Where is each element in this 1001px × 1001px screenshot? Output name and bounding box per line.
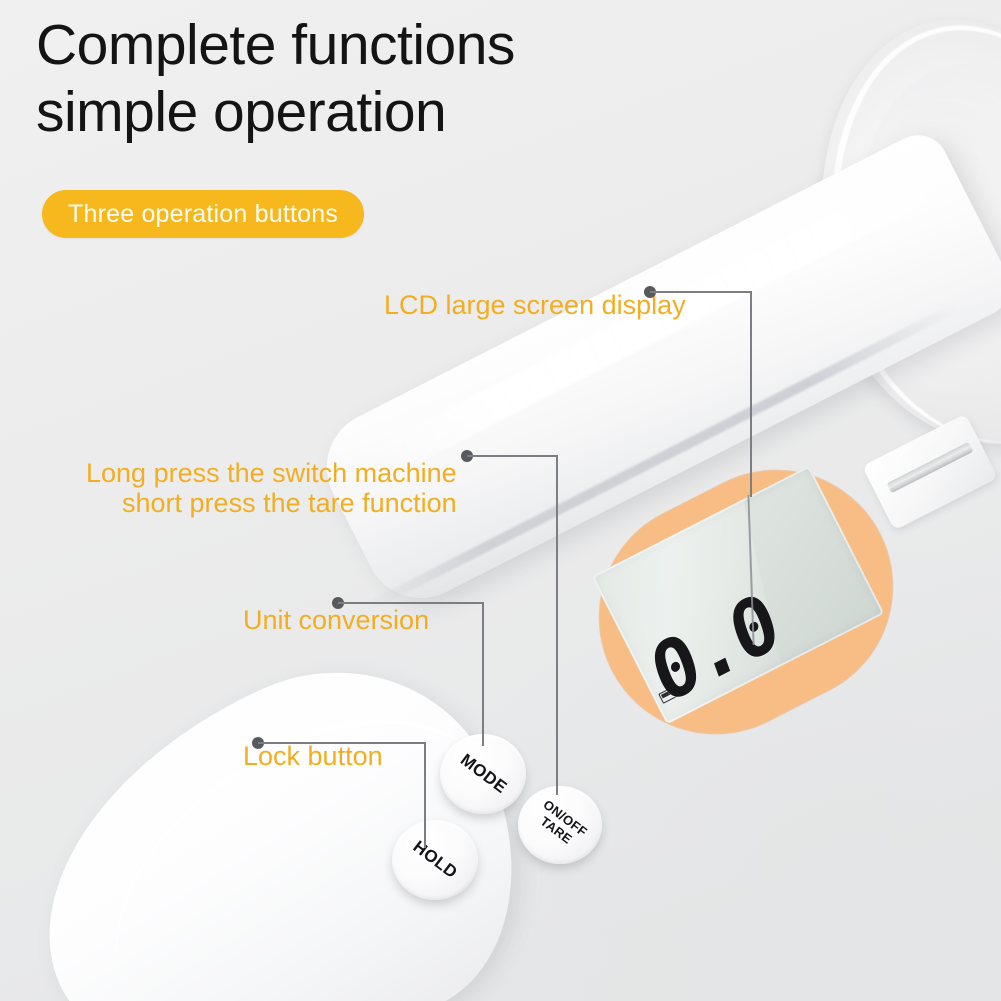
feature-badge-label: Three operation buttons [68,200,338,229]
callout-unit-conversion: Unit conversion [243,606,429,634]
callout-lcd-display-leader-v [750,291,752,497]
on-off-tare-button-label: ON/OFF TARE [531,798,589,852]
hold-button-label: HOLD [409,837,461,883]
page-title-line-1: Complete functions [36,12,696,79]
hold-button[interactable]: HOLD [392,820,478,900]
infographic-canvas: 0.0 MODE HOLD ON/OFF TARE Complete funct… [0,0,1001,1001]
callout-power-tare-leader-h [467,455,557,457]
callout-unit-conversion-leader-h [338,602,483,604]
callout-power-tare: Long press the switch machine short pres… [86,458,457,518]
callout-unit-conversion-leader-v [482,602,484,746]
callout-power-tare-leader-v [556,455,558,795]
on-off-tare-button[interactable]: ON/OFF TARE [518,786,602,864]
page-title-line-2: simple operation [36,79,696,146]
callout-power-tare-line-2: short press the tare function [86,488,457,518]
page-title: Complete functions simple operation [36,12,696,147]
feature-badge: Three operation buttons [42,190,364,238]
callout-lcd-display: LCD large screen display [384,291,686,319]
mode-button[interactable]: MODE [440,734,526,814]
mode-button-label: MODE [456,750,510,798]
callout-lock-button: Lock button [243,742,383,770]
callout-lcd-display-leader-h [650,291,751,293]
callout-power-tare-line-1: Long press the switch machine [86,458,457,488]
callout-lock-button-leader-v [424,742,426,848]
callout-lock-button-leader-h [258,742,425,744]
